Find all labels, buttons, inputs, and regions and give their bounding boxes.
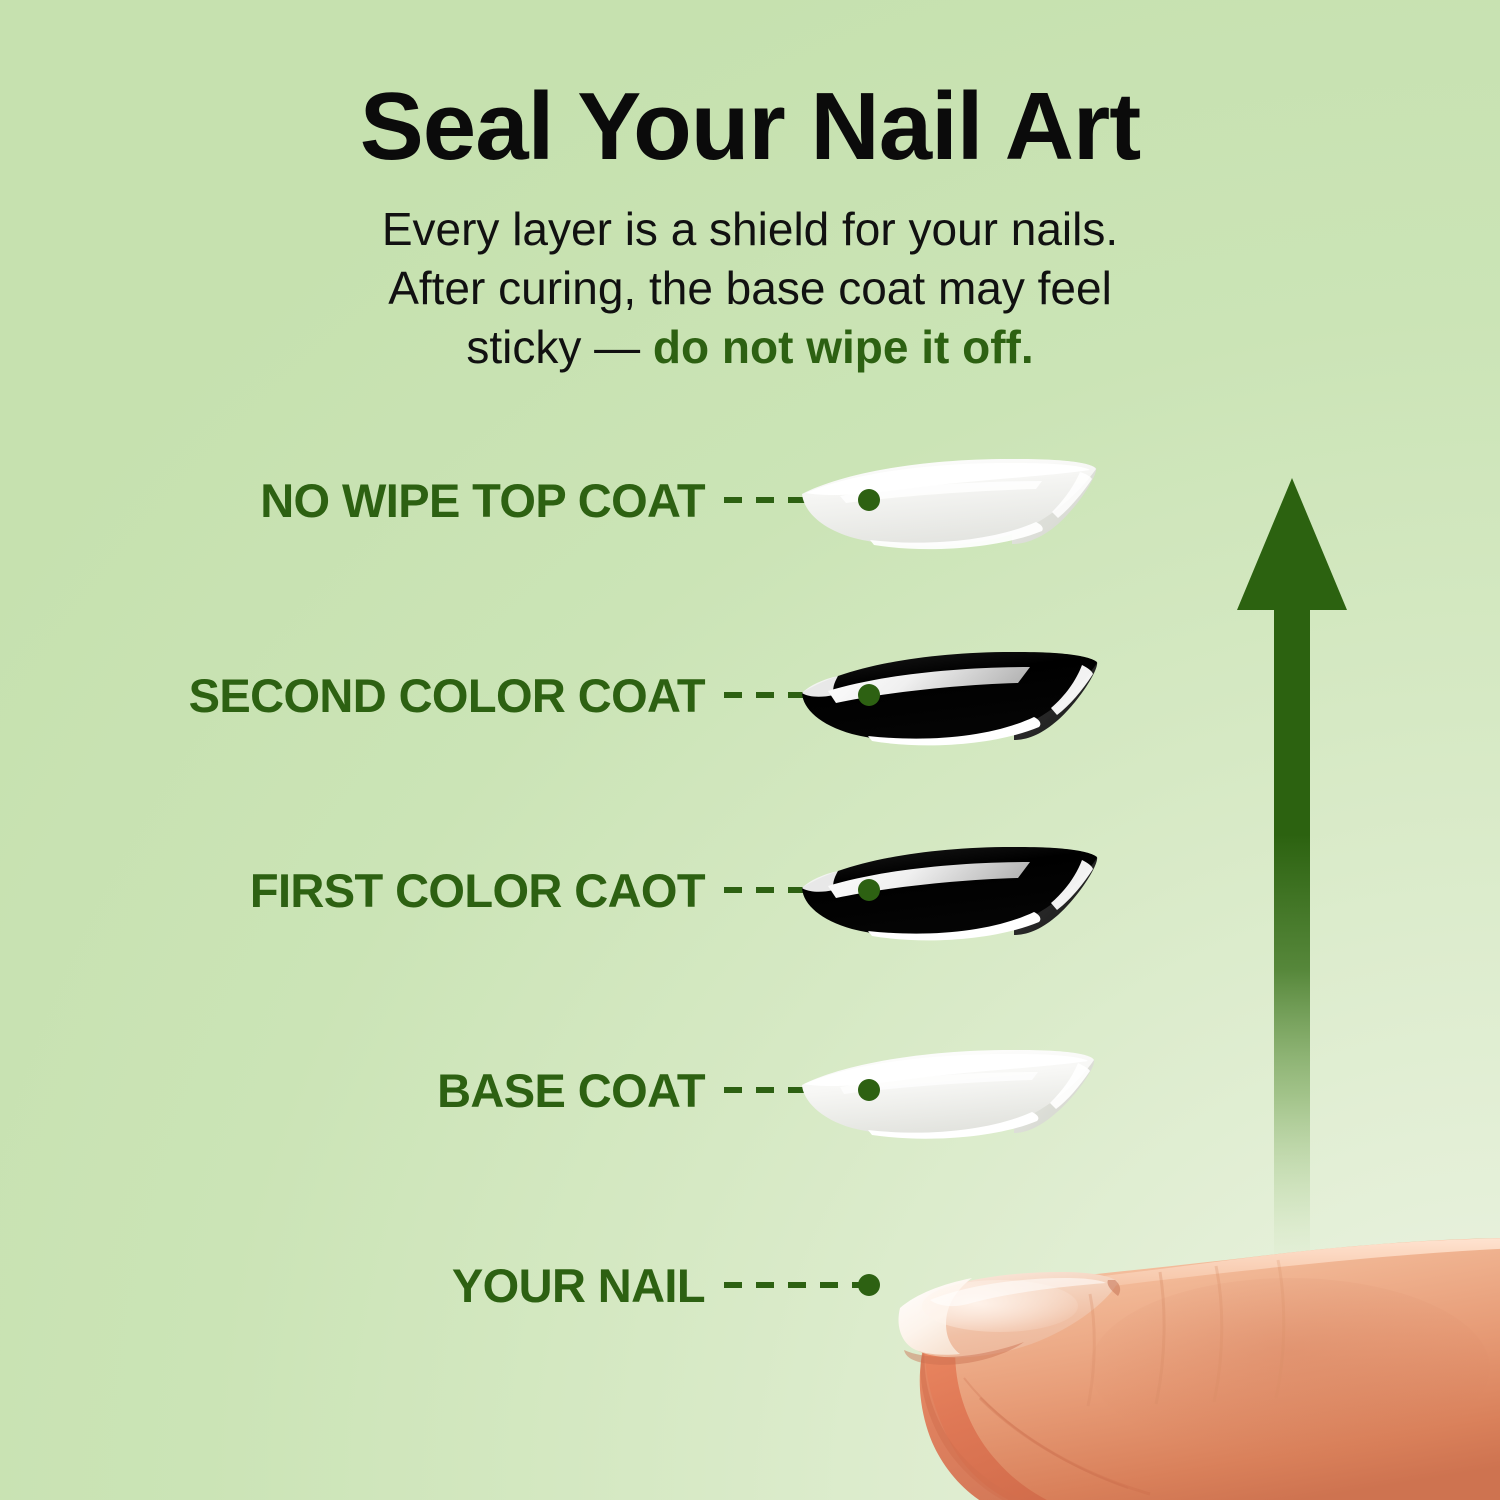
subtitle-line-2: After curing, the base coat may feel <box>300 259 1200 318</box>
layer-row-base-coat: BASE COAT <box>0 1020 1500 1160</box>
infographic-poster: Seal Your Nail Art Every layer is a shie… <box>0 0 1500 1500</box>
layer-label-base-coat: BASE COAT <box>0 1067 705 1114</box>
poster-subtitle: Every layer is a shield for your nails. … <box>300 200 1200 377</box>
subtitle-line-3: sticky — do not wipe it off. <box>300 318 1200 377</box>
layer-row-first-color: FIRST COLOR CAOT <box>0 820 1500 960</box>
connector-dot-top-coat <box>858 489 880 511</box>
connector-dot-second-color <box>858 684 880 706</box>
page-title: Seal Your Nail Art <box>0 78 1500 176</box>
subtitle-emphasis: do not wipe it off. <box>653 321 1034 373</box>
layer-label-your-nail: YOUR NAIL <box>0 1262 705 1309</box>
poster-header: Seal Your Nail Art Every layer is a shie… <box>0 78 1500 377</box>
layer-label-top-coat: NO WIPE TOP COAT <box>0 477 705 524</box>
nail-top-coat <box>780 448 1100 558</box>
nail-first-color-coat <box>780 838 1100 948</box>
nail-second-color-coat <box>780 643 1100 753</box>
layer-label-first-color: FIRST COLOR CAOT <box>0 867 705 914</box>
connector-dot-your-nail <box>858 1274 880 1296</box>
layer-row-second-color: SECOND COLOR COAT <box>0 625 1500 765</box>
connector-dot-base-coat <box>858 1079 880 1101</box>
subtitle-line-3-plain: sticky — <box>466 321 653 373</box>
finger-with-natural-nail <box>860 1228 1500 1500</box>
connector-dot-first-color <box>858 879 880 901</box>
layer-row-top-coat: NO WIPE TOP COAT <box>0 430 1500 570</box>
layer-label-second-color: SECOND COLOR COAT <box>0 672 705 719</box>
nail-base-coat <box>780 1040 1100 1150</box>
subtitle-line-1: Every layer is a shield for your nails. <box>300 200 1200 259</box>
connector-line-your-nail <box>724 1282 868 1288</box>
